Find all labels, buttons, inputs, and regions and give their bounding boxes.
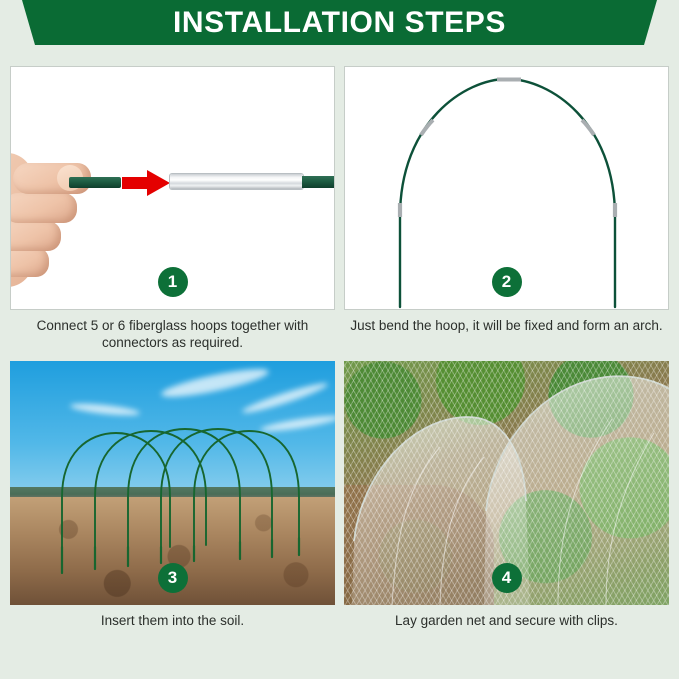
header-banner: INSTALLATION STEPS (0, 0, 679, 52)
step-panel-4: 4 (344, 361, 669, 605)
step-cell-4: 4 Lay garden net and secure with clips. (344, 361, 669, 629)
step-caption-4: Lay garden net and secure with clips. (344, 605, 669, 629)
arrow-shaft (122, 177, 150, 189)
fiberglass-rod-right (302, 176, 335, 188)
step-badge-3: 3 (158, 563, 188, 593)
page-title: INSTALLATION STEPS (0, 0, 679, 45)
step-caption-3: Insert them into the soil. (10, 605, 335, 629)
steps-grid: 1 Connect 5 or 6 fiberglass hoops togeth… (10, 66, 669, 629)
red-arrow-icon (122, 170, 170, 196)
silver-connector-tube (170, 174, 303, 189)
finger-middle (10, 193, 77, 223)
finger-pinky (10, 247, 49, 277)
step-panel-1: 1 (10, 66, 335, 310)
step-badge-4: 4 (492, 563, 522, 593)
step-caption-1: Connect 5 or 6 fiberglass hoops together… (10, 310, 335, 352)
step-panel-2: 2 (344, 66, 669, 310)
step-cell-1: 1 Connect 5 or 6 fiberglass hoops togeth… (10, 66, 335, 352)
connector-segment-right-high (582, 120, 594, 135)
step-badge-2: 2 (492, 267, 522, 297)
hand-illustration (10, 139, 103, 289)
step-cell-2: 2 Just bend the hoop, it will be fixed a… (344, 66, 669, 352)
step-badge-1: 1 (158, 267, 188, 297)
fiberglass-rod-left (69, 177, 121, 188)
step-cell-3: 3 Insert them into the soil. (10, 361, 335, 629)
step-caption-2: Just bend the hoop, it will be fixed and… (344, 310, 669, 334)
finger-ring (10, 221, 61, 251)
connector-segment-left-high (421, 120, 433, 135)
arrow-head (147, 170, 170, 196)
step-panel-3: 3 (10, 361, 335, 605)
